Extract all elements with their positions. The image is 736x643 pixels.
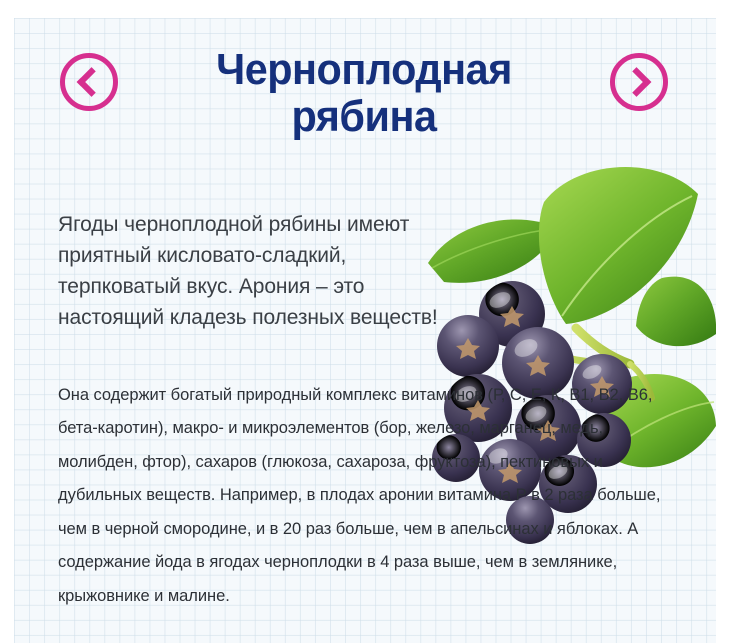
info-card: Черноплодная рябина <box>14 18 716 643</box>
stem-shape <box>576 328 630 364</box>
chevron-right-icon <box>622 67 652 97</box>
body-paragraph: Она содержит богатый природный комплекс … <box>58 379 668 614</box>
page-title: Черноплодная рябина <box>157 46 571 140</box>
prev-arrow-button[interactable] <box>60 53 118 111</box>
chevron-left-icon <box>77 67 107 97</box>
leaf-shape <box>539 167 698 324</box>
intro-paragraph: Ягоды черноплодной рябины имеют приятный… <box>58 209 458 333</box>
next-arrow-button[interactable] <box>610 53 668 111</box>
leaf-shape <box>636 277 716 347</box>
card-header: Черноплодная рябина <box>14 18 716 158</box>
